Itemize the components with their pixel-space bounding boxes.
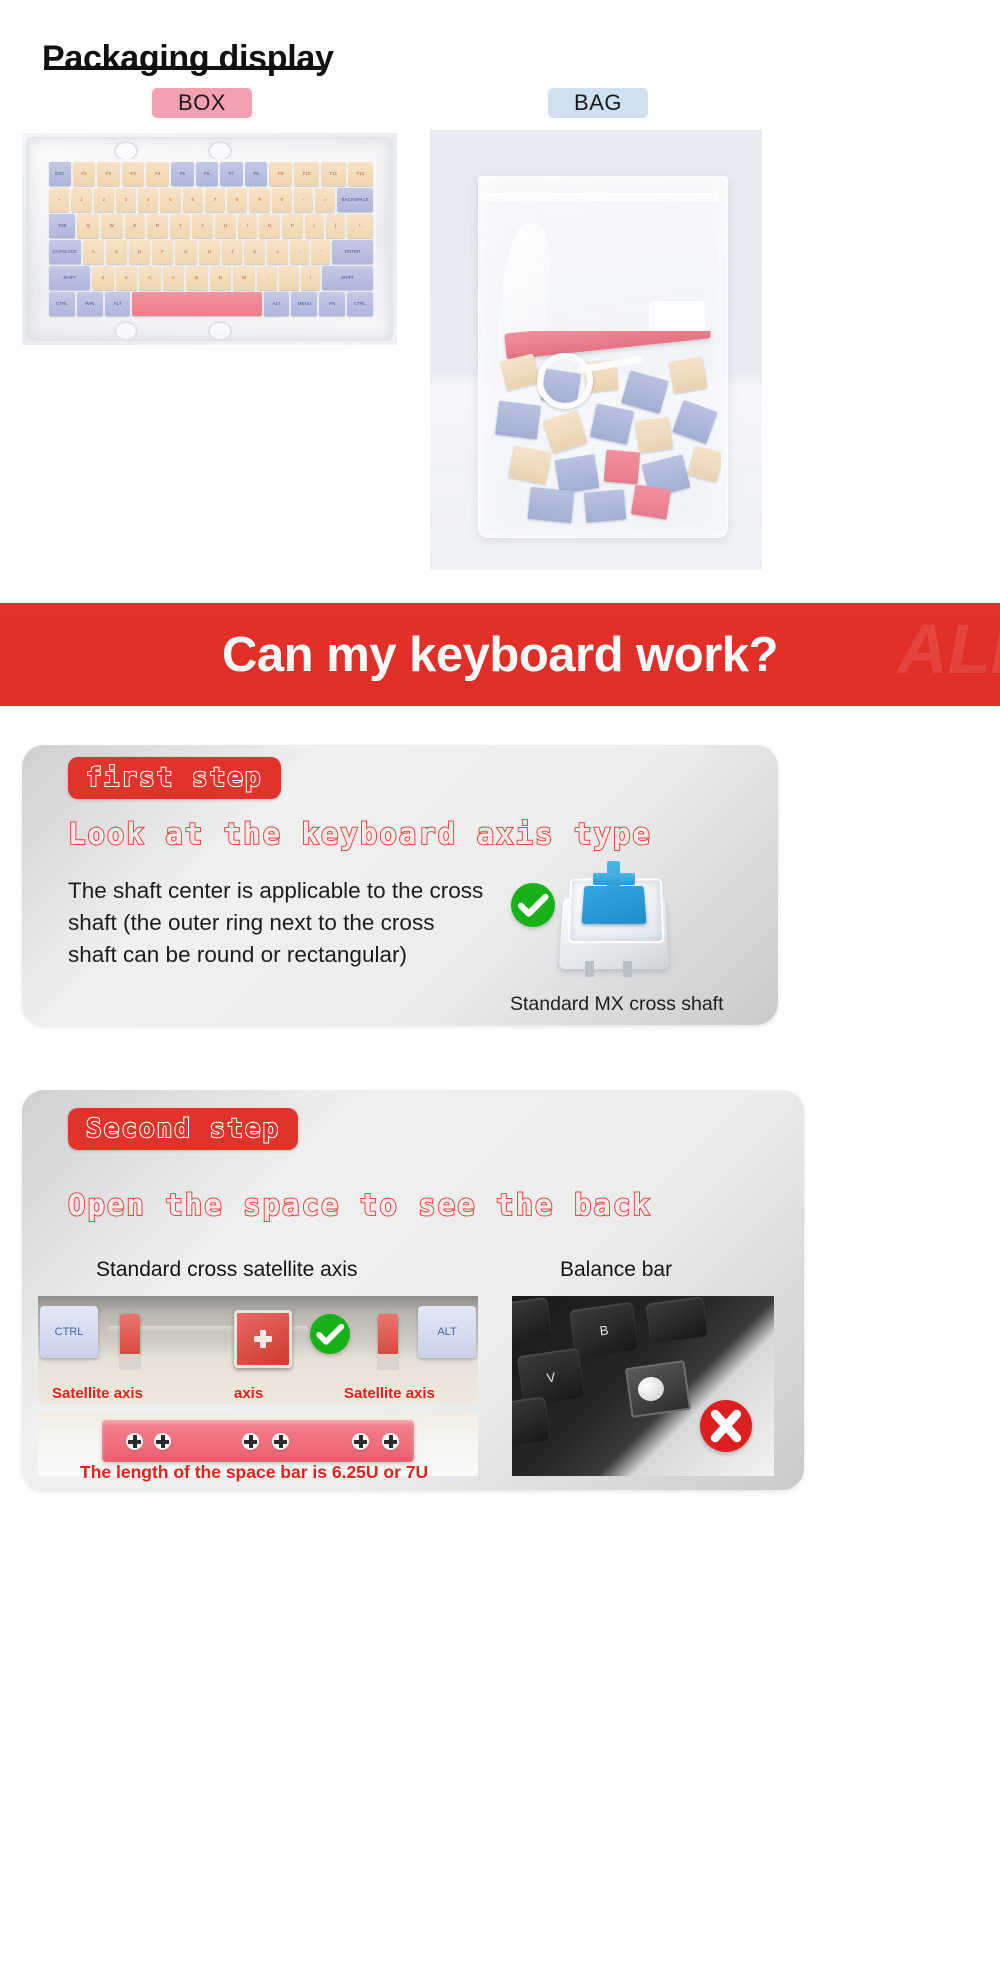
- cross-stem-icon: [254, 1330, 272, 1348]
- page-title: Packaging display: [42, 39, 334, 78]
- key-esc: ESC: [49, 162, 71, 186]
- key-f6: F6: [196, 162, 219, 186]
- key-e: E: [125, 214, 146, 238]
- right-satellite-caption: Satellite axis: [344, 1385, 435, 1402]
- keyboard-row-function: ESC F1 F2 F3 F4 F5 F6 F7 F8 F9 F10 F11 F…: [49, 162, 373, 186]
- dark-keycap: [512, 1297, 553, 1343]
- key-f4: F4: [146, 162, 169, 186]
- key-period: .: [279, 266, 299, 290]
- rubber-dome: [636, 1375, 665, 1402]
- key-quote: ': [311, 240, 330, 264]
- key-tab: TAB: [49, 214, 75, 238]
- switch-socket-with-balance-bar: [625, 1360, 691, 1418]
- keycap: [621, 370, 669, 414]
- spacebar-mount: [352, 1433, 369, 1450]
- key-win: WIN: [77, 292, 103, 316]
- key-enter: ENTER: [332, 240, 373, 264]
- left-satellite-axis: [120, 1314, 140, 1358]
- dark-keycap: [645, 1296, 708, 1344]
- switch-pin: [585, 961, 594, 977]
- key-r: R: [147, 214, 168, 238]
- key-f9: F9: [269, 162, 292, 186]
- keycap-puller-ring: [537, 353, 593, 409]
- key-y: Y: [192, 214, 213, 238]
- spacebar-mount: [242, 1433, 259, 1450]
- first-step-badge-label: first step: [86, 763, 263, 793]
- key-bracket-left: [: [305, 214, 324, 238]
- second-step-badge-label: Second step: [86, 1114, 280, 1144]
- tray-clip: [114, 321, 138, 341]
- key-l: L: [267, 240, 288, 264]
- key-p: P: [282, 214, 303, 238]
- switch-figure-caption: Standard MX cross shaft: [510, 993, 724, 1016]
- key-c: C: [139, 266, 161, 290]
- keyboard-row-modifiers: CTRL WIN ALT ALT MENU FN CTRL: [49, 292, 373, 316]
- key-backspace: BACKSPACE: [337, 188, 372, 212]
- green-check-icon: [310, 1314, 350, 1354]
- key-f1: F1: [73, 162, 96, 186]
- spacebar-mount: [272, 1433, 289, 1450]
- key-alt-right: ALT: [264, 292, 290, 316]
- key-backslash: \: [347, 214, 373, 238]
- key-f2: F2: [97, 162, 120, 186]
- key-f5: F5: [171, 162, 194, 186]
- key-equal: =: [315, 188, 335, 212]
- key-n: N: [210, 266, 232, 290]
- key-f7: F7: [220, 162, 243, 186]
- key-g: G: [175, 240, 197, 264]
- keycap: [635, 417, 673, 453]
- spacebar-length-note: The length of the space bar is 6.25U or …: [80, 1462, 428, 1483]
- keycap: [688, 446, 721, 483]
- red-cross-icon: [700, 1400, 752, 1452]
- dark-keycap-v: V: [517, 1348, 585, 1406]
- key-f12: F12: [348, 162, 373, 186]
- key-5: 5: [160, 188, 180, 212]
- key-spacebar: [132, 292, 261, 316]
- key-7: 7: [205, 188, 225, 212]
- key-8: 8: [227, 188, 247, 212]
- key-tilde: ~: [49, 188, 69, 212]
- key-f8: F8: [245, 162, 268, 186]
- ziplock-bag: [478, 176, 728, 538]
- key-capslock: CAPSLOCK: [49, 240, 81, 264]
- key-u: U: [215, 214, 236, 238]
- key-6: 6: [183, 188, 203, 212]
- watermark: ALI: [897, 609, 1000, 689]
- right-satellite-axis: [378, 1314, 398, 1358]
- strip-key-ctrl: CTRL: [40, 1306, 98, 1358]
- key-f10: F10: [294, 162, 319, 186]
- pink-spacebar: [102, 1420, 414, 1462]
- key-3: 3: [116, 188, 136, 212]
- green-check-icon: [511, 883, 555, 927]
- balance-bar-label: Balance bar: [560, 1258, 672, 1282]
- strip-key-alt: ALT: [418, 1306, 476, 1358]
- box-label-pill: BOX: [152, 88, 252, 118]
- tray-clip: [114, 141, 138, 161]
- key-alt-left: ALT: [105, 292, 131, 316]
- key-i: I: [238, 214, 257, 238]
- first-step-badge: first step: [68, 757, 281, 799]
- first-step-body-text: The shaft center is applicable to the cr…: [68, 875, 488, 971]
- bag-label-pill: BAG: [548, 88, 648, 118]
- key-semicolon: ;: [290, 240, 309, 264]
- second-step-card: Second step Open the space to see the ba…: [22, 1090, 804, 1490]
- key-9: 9: [249, 188, 269, 212]
- key-0: 0: [272, 188, 292, 212]
- keycap: [668, 356, 707, 393]
- standard-cross-satellite-axis-label: Standard cross satellite axis: [96, 1258, 357, 1282]
- spacebar-mount: [126, 1433, 143, 1450]
- satellite-axis-photo: CTRL ALT Satellite axis axis Satellite a…: [38, 1296, 478, 1404]
- pink-spacebar-keycap: [504, 331, 711, 360]
- keycap: [672, 400, 717, 444]
- key-f11: F11: [321, 162, 346, 186]
- dark-keycap-b: B: [569, 1302, 639, 1358]
- keycap: [508, 446, 551, 485]
- key-minus: -: [294, 188, 313, 212]
- balance-bar-photo: B V: [512, 1296, 774, 1476]
- left-satellite-caption: Satellite axis: [52, 1385, 143, 1402]
- keycap: [495, 401, 541, 440]
- right-satellite-foot: [377, 1354, 399, 1370]
- key-j: J: [222, 240, 242, 264]
- bag-zip-seal: [487, 193, 719, 201]
- key-comma: ,: [257, 266, 277, 290]
- center-axis-caption: axis: [234, 1385, 263, 1402]
- spacebar-mount: [382, 1433, 399, 1450]
- keyboard-row-qwerty: TAB Q W E R T Y U I O P [ ] \: [49, 214, 373, 238]
- mx-switch-illustration: [519, 857, 699, 977]
- key-z: Z: [92, 266, 113, 290]
- keycap: [590, 403, 634, 444]
- bag-packaging-photo: [430, 130, 762, 570]
- keycap: [555, 454, 600, 494]
- first-step-card: first step Look at the keyboard axis typ…: [22, 745, 778, 1025]
- key-v: V: [163, 266, 184, 290]
- bag-sticker: [649, 301, 705, 335]
- keycap: [631, 484, 671, 519]
- keyboard-row-home: CAPSLOCK A S D F G H J K L ; ' ENTER: [49, 240, 373, 264]
- key-fn: FN: [319, 292, 345, 316]
- second-step-badge: Second step: [68, 1108, 298, 1150]
- keyboard-row-number: ~ 1 2 3 4 5 6 7 8 9 0 - = BACKSPACE: [49, 188, 373, 212]
- dark-keycap: [512, 1396, 551, 1447]
- key-o: O: [259, 214, 280, 238]
- keyboard-row-bottom-letters: SHIFT Z X C V B N M , . / SHIFT: [49, 266, 373, 290]
- key-s: S: [106, 240, 127, 264]
- keycap: [584, 489, 626, 522]
- key-f3: F3: [122, 162, 145, 186]
- key-ctrl-left: CTRL: [49, 292, 75, 316]
- box-packaging-photo: ESC F1 F2 F3 F4 F5 F6 F7 F8 F9 F10 F11 F…: [22, 133, 397, 345]
- tray-clip: [208, 321, 232, 341]
- key-q: Q: [77, 214, 98, 238]
- second-step-heading: Open the space to see the back: [68, 1188, 652, 1222]
- key-shift-right: SHIFT: [322, 266, 373, 290]
- key-2: 2: [94, 188, 114, 212]
- switch-pin: [623, 961, 632, 977]
- tray-clip: [208, 141, 232, 161]
- switch-cross-stem-horizontal: [593, 873, 635, 885]
- keycap: [527, 487, 574, 523]
- key-ctrl-right: CTRL: [347, 292, 373, 316]
- title-underline: [44, 66, 322, 70]
- spacebar-mount: [154, 1433, 171, 1450]
- key-x: X: [116, 266, 137, 290]
- key-h: H: [199, 240, 220, 264]
- banner-headline: Can my keyboard work?: [222, 627, 778, 683]
- key-w: W: [101, 214, 123, 238]
- center-cross-axis: [234, 1310, 292, 1368]
- key-shift-left: SHIFT: [49, 266, 90, 290]
- keycap: [500, 353, 540, 390]
- keycap: [543, 410, 588, 453]
- key-4: 4: [138, 188, 158, 212]
- boxed-keyboard: ESC F1 F2 F3 F4 F5 F6 F7 F8 F9 F10 F11 F…: [46, 159, 376, 317]
- key-menu: MENU: [291, 292, 317, 316]
- key-d: D: [129, 240, 150, 264]
- key-t: T: [170, 214, 190, 238]
- first-step-heading: Look at the keyboard axis type: [68, 817, 652, 851]
- key-1: 1: [71, 188, 91, 212]
- keycap-pile: [485, 331, 721, 531]
- key-a: A: [83, 240, 104, 264]
- key-slash: /: [301, 266, 321, 290]
- key-m: M: [233, 266, 255, 290]
- key-f: F: [152, 240, 173, 264]
- question-banner: ALI Can my keyboard work?: [0, 603, 1000, 706]
- key-bracket-right: ]: [326, 214, 345, 238]
- key-b: B: [186, 266, 207, 290]
- key-k: K: [244, 240, 265, 264]
- keycap: [604, 450, 641, 485]
- left-satellite-foot: [119, 1354, 141, 1370]
